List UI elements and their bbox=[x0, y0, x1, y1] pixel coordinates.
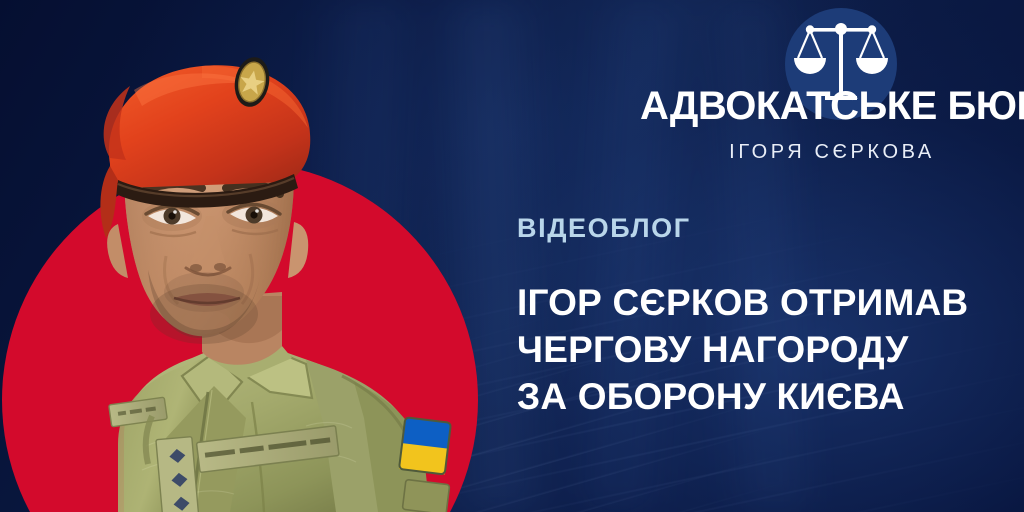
copy-block: ВІДЕОБЛОГ ІГОР СЄРКОВ ОТРИМАВ ЧЕРГОВУ НА… bbox=[517, 212, 987, 420]
brand-logo[interactable]: АДВОКАТСЬКЕ БЮРО ІГОРЯ СЄРКОВА bbox=[640, 8, 1024, 180]
headline-line: ЧЕРГОВУ НАГОРОДУ bbox=[517, 326, 987, 373]
logo-subtitle: ІГОРЯ СЄРКОВА bbox=[640, 140, 1024, 164]
ukraine-flag-patch bbox=[399, 417, 451, 474]
uniform bbox=[109, 342, 451, 512]
logo-title: АДВОКАТСЬКЕ БЮРО bbox=[640, 86, 1024, 126]
headline-line: ІГОР СЄРКОВ ОТРИМАВ bbox=[517, 279, 987, 326]
headline: ІГОР СЄРКОВ ОТРИМАВ ЧЕРГОВУ НАГОРОДУ ЗА … bbox=[517, 279, 987, 420]
kicker-label: ВІДЕОБЛОГ bbox=[517, 212, 987, 244]
headline-line: ЗА ОБОРОНУ КИЄВА bbox=[517, 373, 987, 420]
banner-canvas: АДВОКАТСЬКЕ БЮРО ІГОРЯ СЄРКОВА ВІДЕОБЛОГ… bbox=[0, 0, 1024, 512]
portrait-photo bbox=[6, 46, 476, 512]
